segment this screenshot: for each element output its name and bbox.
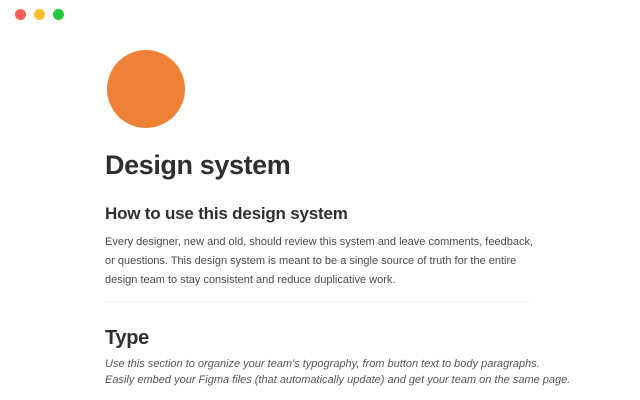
document-canvas[interactable]: Design system How to use this design sys… — [0, 28, 640, 400]
window-titlebar — [0, 0, 640, 28]
minimize-window-button[interactable] — [34, 9, 45, 20]
app-window: Design system How to use this design sys… — [0, 0, 640, 400]
section-note-line: Use this section to organize your team's… — [105, 356, 545, 372]
maximize-window-button[interactable] — [53, 9, 64, 20]
close-window-button[interactable] — [15, 9, 26, 20]
section-heading-type[interactable]: Type — [105, 325, 149, 351]
section-heading-how-to-use[interactable]: How to use this design system — [105, 203, 348, 225]
orange-circle-icon — [107, 50, 185, 128]
section-note-type[interactable]: Use this section to organize your team's… — [105, 356, 545, 388]
page-title[interactable]: Design system — [105, 149, 290, 182]
section-divider — [105, 301, 530, 302]
section-note-line: Easily embed your Figma files (that auto… — [105, 372, 545, 388]
window-controls — [15, 9, 64, 20]
section-paragraph-how-to-use[interactable]: Every designer, new and old, should revi… — [105, 233, 535, 290]
